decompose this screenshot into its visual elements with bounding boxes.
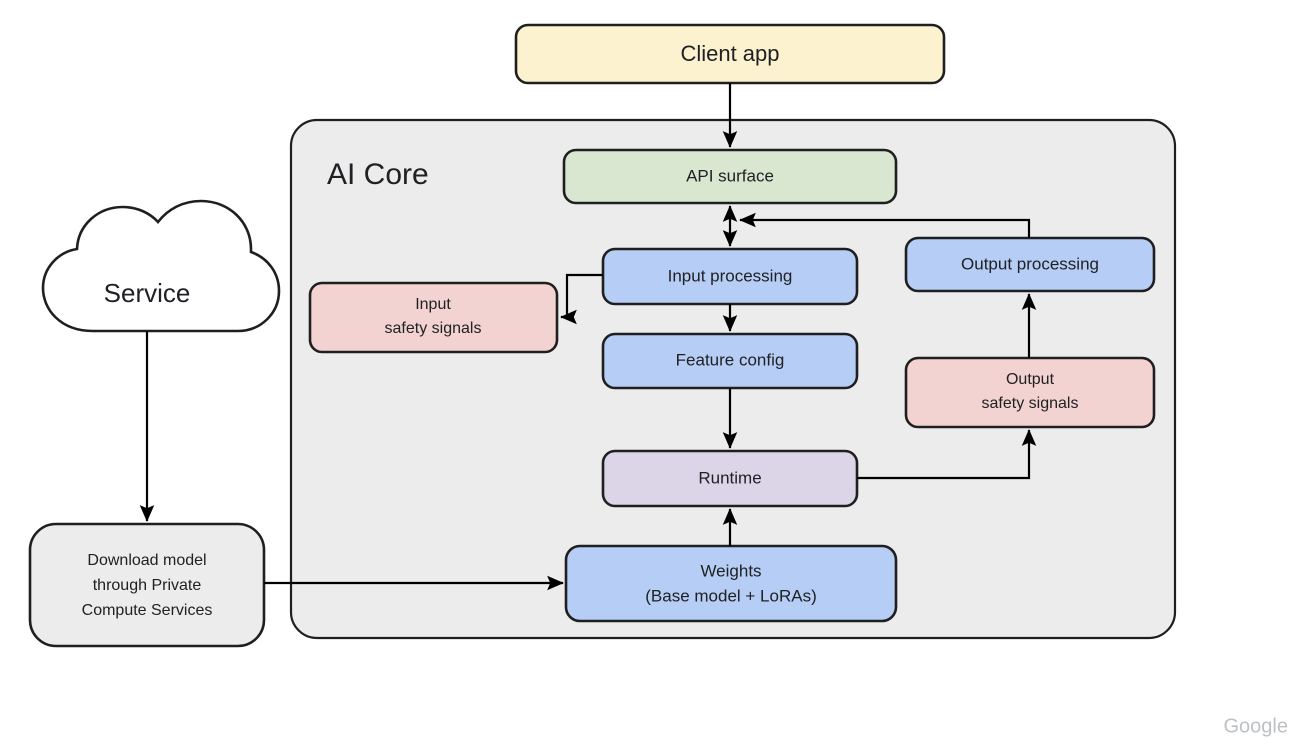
- input-safety-signals-label-line1: Input: [415, 296, 451, 313]
- download-model-label-line3: Compute Services: [82, 602, 213, 619]
- node-download-model[interactable]: Download model through Private Compute S…: [30, 524, 264, 646]
- input-safety-signals-box[interactable]: [310, 283, 557, 352]
- ai-core-panel-title: AI Core: [327, 158, 429, 191]
- output-safety-signals-box[interactable]: [906, 358, 1154, 427]
- weights-label-line2: (Base model + LoRAs): [645, 586, 817, 605]
- node-input-safety-signals[interactable]: Input safety signals: [310, 283, 557, 352]
- node-runtime[interactable]: Runtime: [603, 451, 857, 506]
- output-safety-signals-label-line1: Output: [1006, 371, 1055, 388]
- output-safety-signals-label-line2: safety signals: [982, 395, 1079, 412]
- node-input-processing[interactable]: Input processing: [603, 249, 857, 304]
- node-weights[interactable]: Weights (Base model + LoRAs): [566, 546, 896, 621]
- node-feature-config[interactable]: Feature config: [603, 334, 857, 388]
- node-api-surface[interactable]: API surface: [564, 150, 896, 203]
- architecture-diagram: AI Core Client app API surface Input pro…: [0, 0, 1304, 756]
- service-cloud-label: Service: [104, 278, 191, 308]
- client-app-label: Client app: [680, 41, 779, 66]
- weights-box[interactable]: [566, 546, 896, 621]
- feature-config-label: Feature config: [676, 350, 785, 369]
- input-safety-signals-label-line2: safety signals: [385, 320, 482, 337]
- weights-label-line1: Weights: [700, 561, 761, 580]
- node-output-safety-signals[interactable]: Output safety signals: [906, 358, 1154, 427]
- google-watermark: Google: [1224, 715, 1289, 737]
- download-model-label-line1: Download model: [87, 552, 206, 569]
- node-client-app[interactable]: Client app: [516, 25, 944, 83]
- api-surface-label: API surface: [686, 166, 774, 185]
- runtime-label: Runtime: [698, 468, 761, 487]
- input-processing-label: Input processing: [668, 266, 793, 285]
- output-processing-label: Output processing: [961, 254, 1099, 273]
- node-output-processing[interactable]: Output processing: [906, 238, 1154, 291]
- download-model-label-line2: through Private: [93, 577, 202, 594]
